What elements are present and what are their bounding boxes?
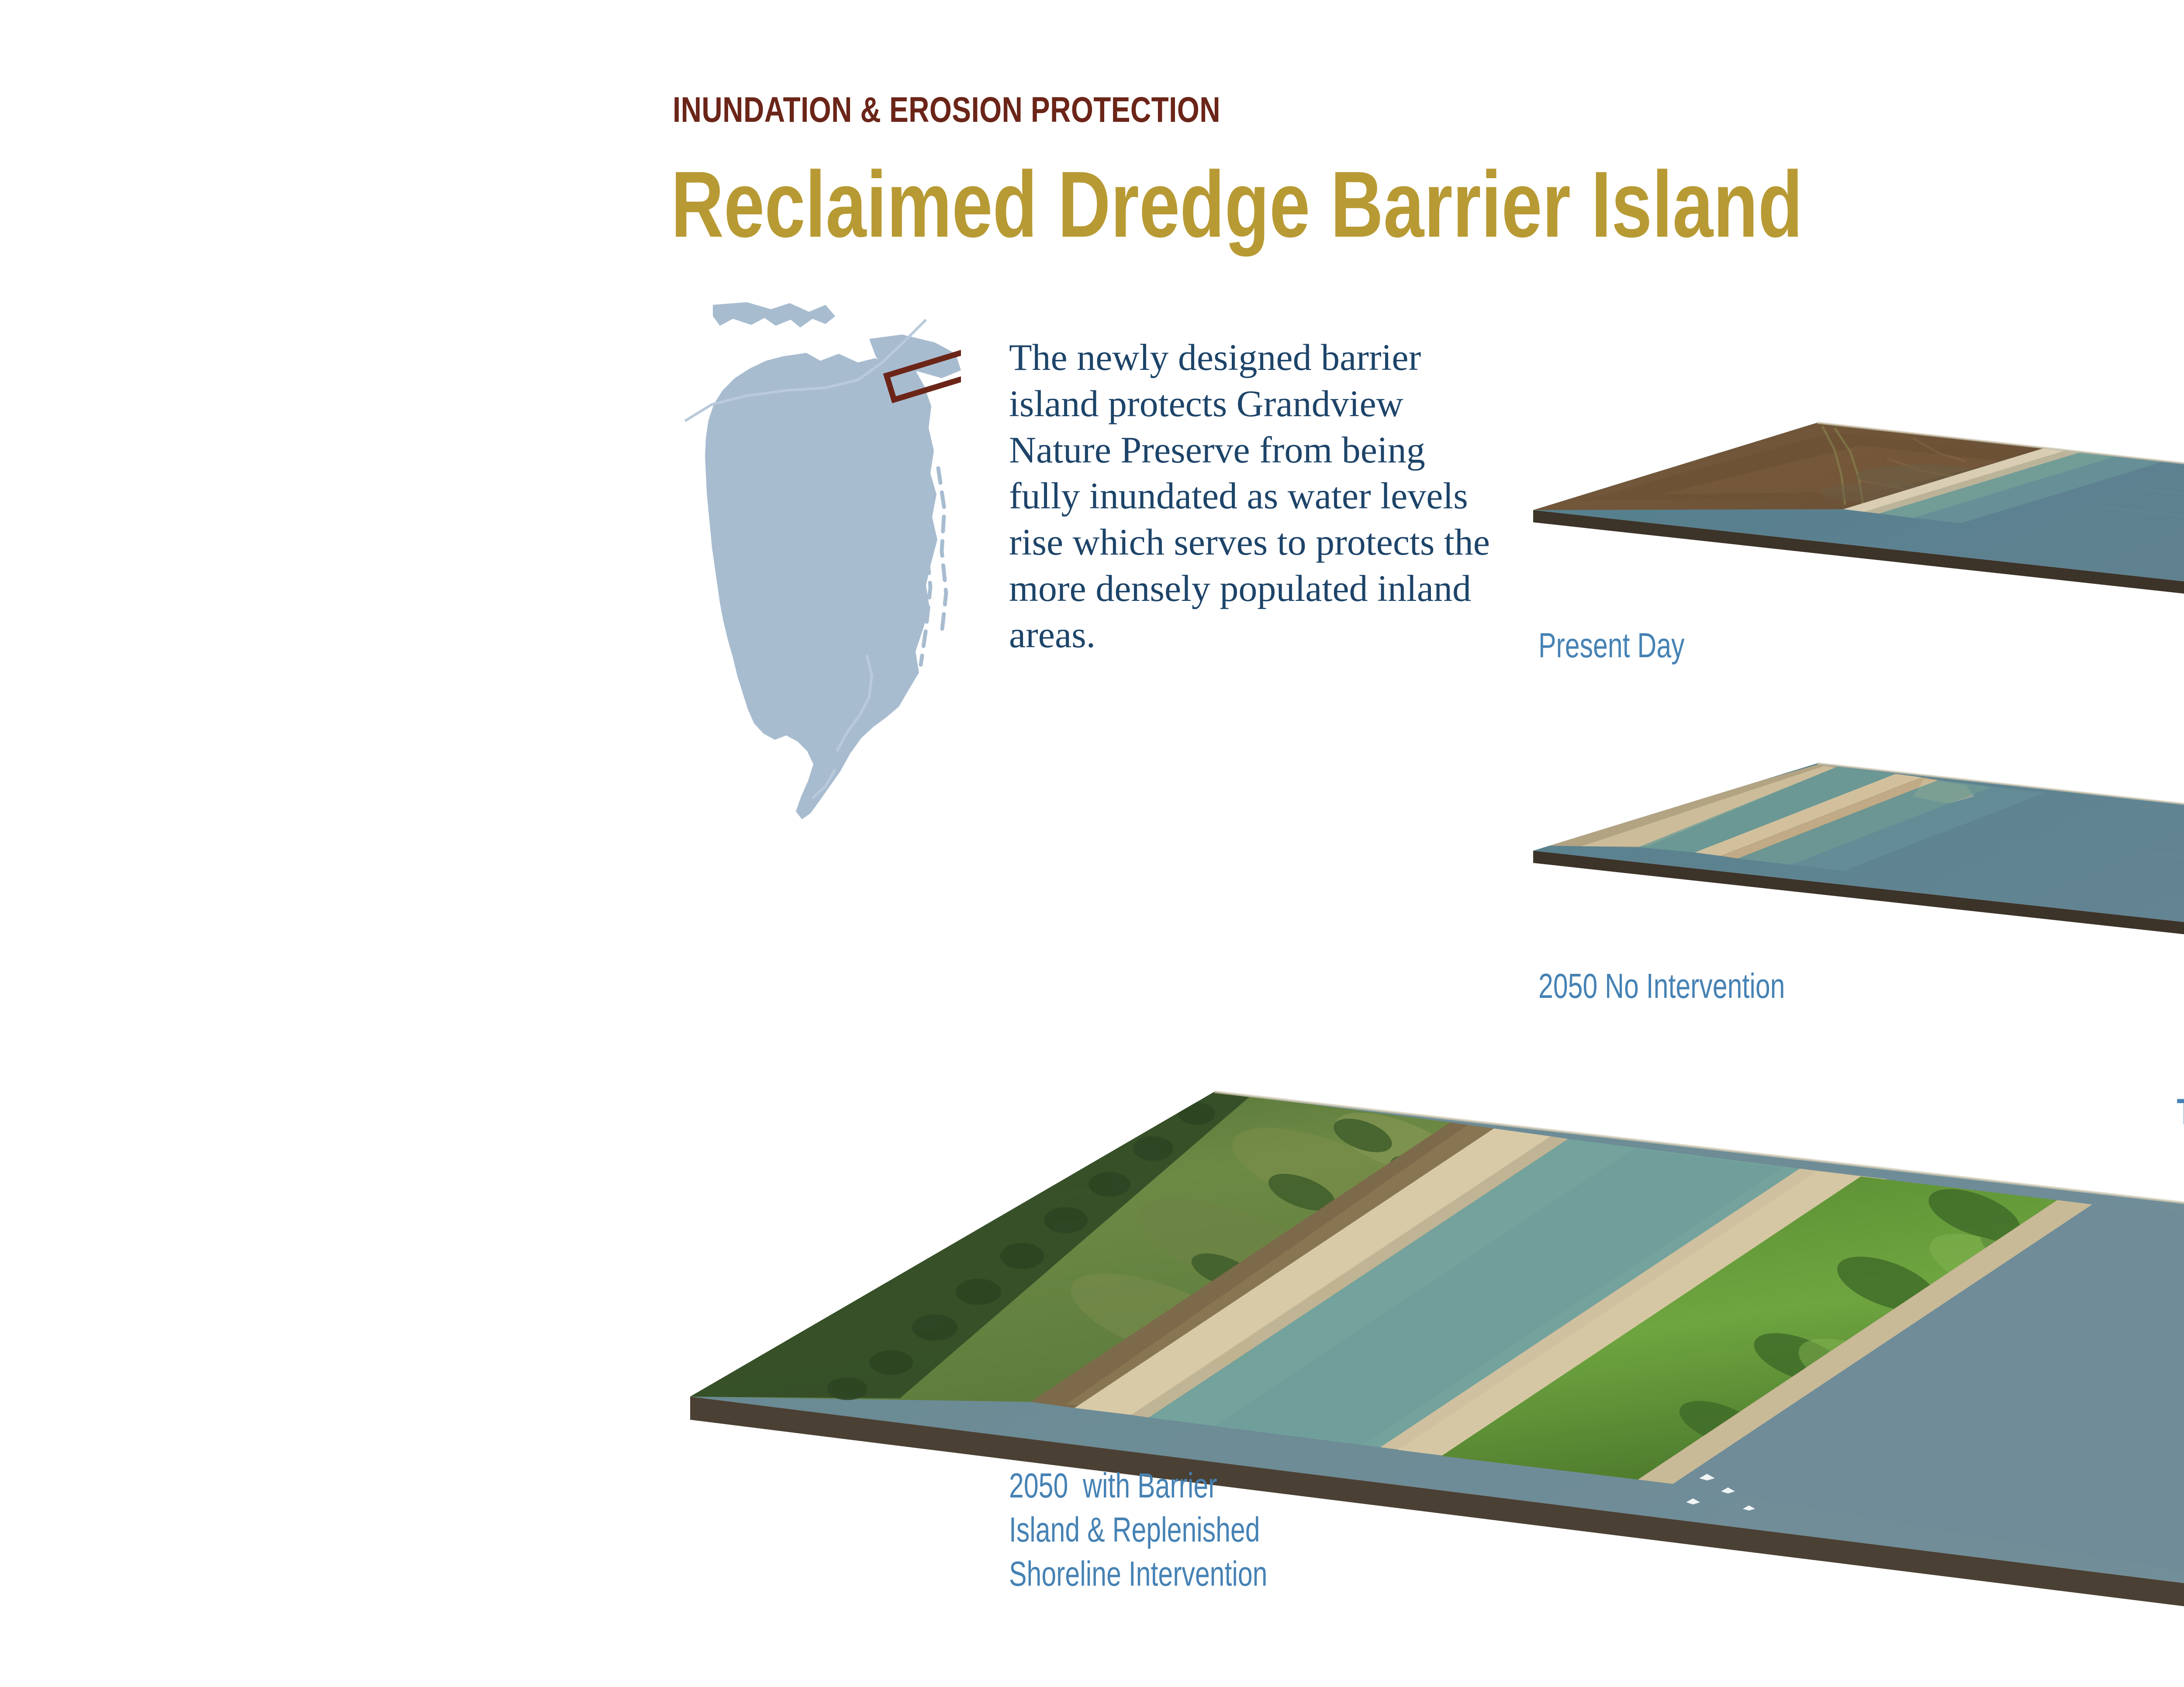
scenario-slab-present-day [1529, 419, 2184, 620]
scenario-caption-barrier-island: 2050 with Barrier Island & Replenished S… [1009, 1464, 1267, 1596]
scenario-caption-present-day: Present Day [1538, 624, 1685, 668]
locator-landmass [705, 302, 961, 819]
regional-locator-map [681, 297, 961, 821]
intro-paragraph: The newly designed barrier island protec… [1009, 335, 1498, 658]
page-eyebrow: INUNDATION & EROSION PROTECTION [673, 90, 1220, 131]
scenario-slab-no-intervention [1529, 760, 2184, 961]
infographic-canvas: INUNDATION & EROSION PROTECTION Reclaime… [0, 0, 2184, 1687]
scenario-caption-no-intervention: 2050 No Intervention [1538, 964, 1785, 1008]
scenario-slab-barrier-island [681, 1083, 2184, 1646]
land-loss-annotation: The lowest level of SLR re- sults in the… [2155, 1090, 2184, 1266]
page-title: Reclaimed Dredge Barrier Island [671, 157, 1803, 251]
